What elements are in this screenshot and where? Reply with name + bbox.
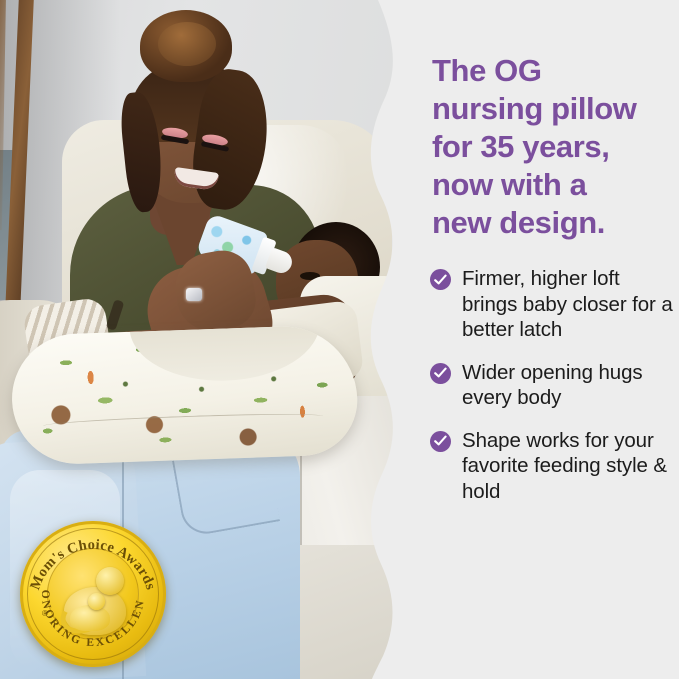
list-item: Firmer, higher loft brings baby closer f… xyxy=(430,266,679,343)
copy-panel: The OG nursing pillow for 35 years, now … xyxy=(430,0,679,679)
product-ad: ® Mom's Choice Awards HONORING EXCELLENC… xyxy=(0,0,679,679)
list-item: Shape works for your favorite feeding st… xyxy=(430,428,679,505)
list-item-label: Wider opening hugs every body xyxy=(462,360,679,411)
badge-arc-text-svg: Mom's Choice Awards HONORING EXCELLENCE xyxy=(20,521,166,667)
list-item: Wider opening hugs every body xyxy=(430,360,679,411)
moms-choice-awards-badge: ® Mom's Choice Awards HONORING EXCELLENC… xyxy=(20,521,166,667)
mother-ring xyxy=(186,288,202,301)
list-item-label: Firmer, higher loft brings baby closer f… xyxy=(462,266,679,343)
mother-hair-bun-highlight xyxy=(158,22,216,66)
nursing-pillow xyxy=(10,324,359,466)
page-title: The OG nursing pillow for 35 years, now … xyxy=(432,52,678,242)
list-item-label: Shape works for your favorite feeding st… xyxy=(462,428,679,505)
feature-list: Firmer, higher loft brings baby closer f… xyxy=(430,266,679,521)
check-circle-icon xyxy=(430,363,451,384)
badge-top-text: Mom's Choice Awards xyxy=(27,537,158,592)
check-circle-icon xyxy=(430,431,451,452)
check-circle-icon xyxy=(430,269,451,290)
